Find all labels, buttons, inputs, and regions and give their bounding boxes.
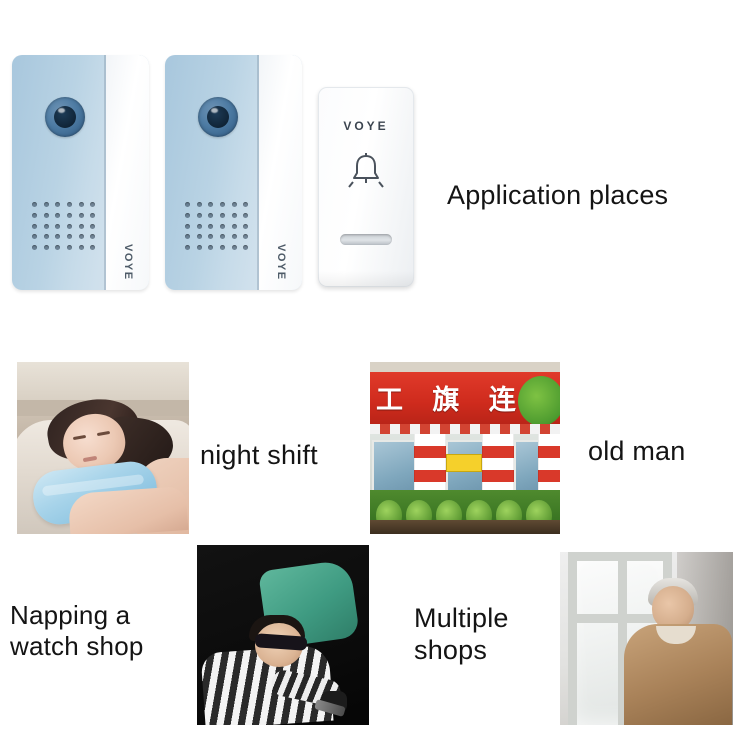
transmitter-shadow bbox=[318, 271, 414, 287]
doorbell-transmitter: VOYE bbox=[318, 87, 414, 287]
brand-text-receiver-2: VOYE bbox=[275, 244, 287, 276]
label-night-shift: night shift bbox=[200, 440, 318, 472]
receiver-seam bbox=[257, 55, 259, 290]
doorbell-receiver-1: VOYE bbox=[12, 55, 149, 290]
brand-text-transmitter: VOYE bbox=[318, 119, 414, 133]
brand-text-receiver-1: VOYE bbox=[122, 244, 134, 276]
product-photo-group: VOYE VOYE VOYE bbox=[0, 55, 430, 305]
doorbell-receiver-2: VOYE bbox=[165, 55, 302, 290]
receiver-seam bbox=[104, 55, 106, 290]
label-napping-watch-shop: Napping a watch shop bbox=[10, 600, 144, 661]
receiver-lens-icon bbox=[45, 97, 85, 137]
woman-sleeping-photo bbox=[17, 362, 189, 534]
transmitter-button[interactable] bbox=[340, 234, 392, 245]
lens-glint bbox=[58, 108, 65, 113]
receiver-lens-icon bbox=[198, 97, 238, 137]
label-multiple-shops: Multiple shops bbox=[414, 603, 509, 667]
lens-glint bbox=[211, 108, 218, 113]
speaker-grille bbox=[185, 202, 253, 254]
label-old-man: old man bbox=[588, 436, 685, 468]
storefront-photo: 工 旗 连 锁 bbox=[370, 362, 560, 534]
doorbell-icon bbox=[318, 149, 414, 191]
elderly-man-window-photo bbox=[560, 552, 733, 725]
label-application-places: Application places bbox=[447, 180, 668, 212]
speaker-grille bbox=[32, 202, 100, 254]
masked-thief-photo bbox=[197, 545, 369, 725]
